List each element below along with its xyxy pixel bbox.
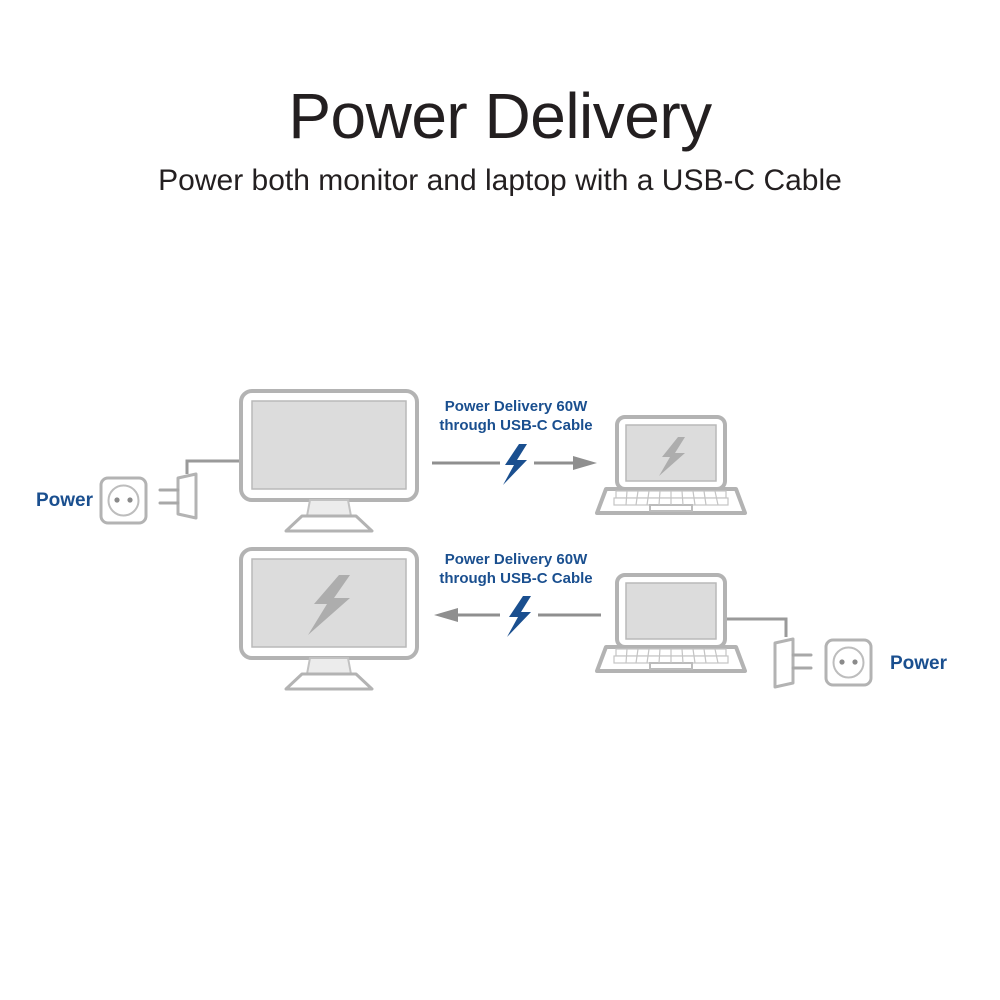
power-delivery-diagram: Power Power Delivery 60W through USB-C C…: [0, 0, 1000, 1000]
row-top-label-line2: through USB-C Cable: [439, 417, 592, 434]
lightning-bolt-icon: [507, 596, 531, 637]
monitor-icon: [241, 549, 417, 689]
laptop-icon: [597, 417, 745, 513]
power-plug-adapter-icon: [160, 474, 196, 518]
power-socket-icon: [101, 478, 146, 523]
power-socket-icon: [826, 640, 871, 685]
cable-adapter-to-monitor: [187, 461, 243, 474]
row-bottom-label-line1: Power Delivery 60W: [445, 551, 588, 568]
cable-laptop-to-adapter: [727, 619, 786, 637]
lightning-bolt-icon: [503, 444, 527, 485]
power-label-left: Power: [36, 490, 94, 511]
row-bottom-label-line2: through USB-C Cable: [439, 570, 592, 587]
power-label-right: Power: [890, 653, 948, 674]
arrow-left-icon: [434, 608, 458, 622]
row-top-label-line1: Power Delivery 60W: [445, 398, 588, 415]
arrow-right-icon: [573, 456, 597, 470]
laptop-icon: [597, 575, 745, 671]
page-root: Power Delivery Power both monitor and la…: [0, 0, 1000, 1000]
power-plug-adapter-icon: [775, 639, 811, 687]
monitor-icon: [241, 391, 417, 531]
